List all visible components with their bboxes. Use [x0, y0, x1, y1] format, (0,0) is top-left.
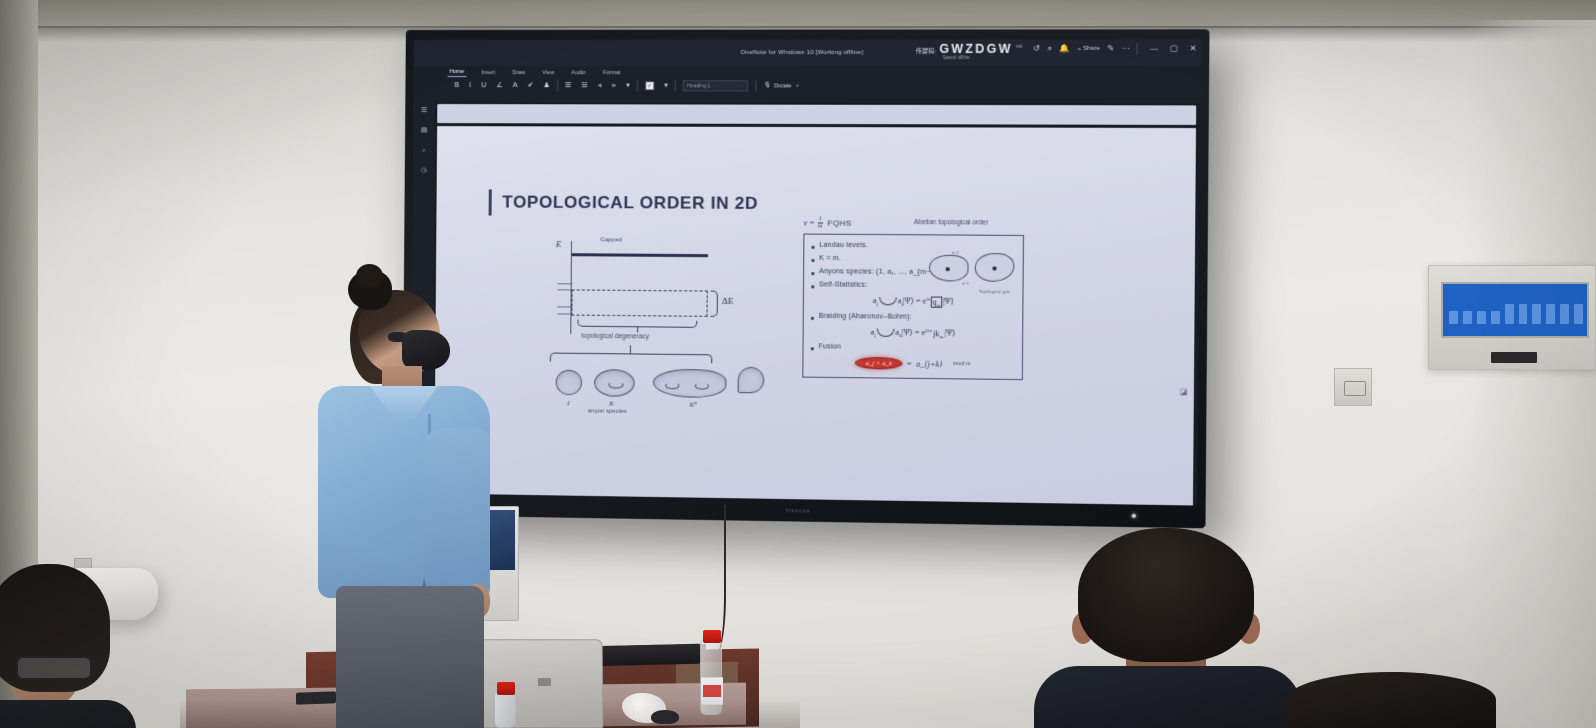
bottle-cap: [703, 630, 721, 643]
minimize-button[interactable]: —: [1150, 45, 1158, 53]
sphere-surface: [556, 370, 582, 395]
energy-level-tick: [558, 283, 573, 284]
anyon-blob-left: [929, 255, 969, 282]
display-brand-label: hisense: [786, 508, 811, 514]
water-bottle: [700, 640, 722, 715]
breaker-switch: [1505, 304, 1514, 324]
todo-checkbox-icon[interactable]: ✓: [645, 81, 654, 90]
abelian-order-panel: ν = 1 m FQHS Abelian topologica: [802, 216, 1024, 380]
filling-fraction: ν = 1 m: [803, 216, 823, 229]
audience-glasses: [16, 656, 92, 680]
checkbox-dropdown-icon[interactable]: ▾: [664, 82, 668, 89]
share-button[interactable]: ⌁ Share: [1077, 45, 1100, 52]
fusion-result: a_{j+k}: [916, 359, 943, 368]
panel-box: a=1 a=t Landau levels.: [802, 234, 1024, 381]
close-button[interactable]: ✕: [1190, 45, 1197, 53]
title-accent-bar: [489, 189, 492, 215]
dictate-dropdown-icon[interactable]: ⌄: [795, 83, 800, 89]
app-ribbon: Home Insert Draw View Audio Format B I U: [413, 66, 1200, 103]
self-statistics-formula: Topological spin ajaj|Ψ⟩ = eiπqm|Ψ⟩: [811, 294, 1016, 307]
classroom-scene: hisense OneNote for Windows 10 [Working …: [0, 0, 1596, 728]
formula-rhs: eiπ: [923, 296, 931, 305]
formula-tail: |Ψ⟩: [943, 297, 954, 306]
pen-icon[interactable]: ✎: [1107, 45, 1114, 53]
fusion-mod: mod m: [953, 361, 971, 367]
bullet-text: Fusion: [818, 343, 841, 350]
wall-display: hisense OneNote for Windows 10 [Working …: [402, 29, 1209, 528]
notification-bell-icon[interactable]: 🔔: [1059, 45, 1070, 53]
dictate-label: Dictate: [774, 83, 792, 89]
bullet-text: Braiding (Aharonov–Bohm):: [819, 313, 912, 321]
genus-two-surface: [653, 369, 727, 398]
genus-label-1: K: [609, 400, 614, 408]
bullet-text: Self-Statistics:: [819, 281, 867, 289]
panel-heading-right: Abelian topological order: [914, 219, 988, 227]
search-icon[interactable]: ⌕: [1047, 45, 1052, 53]
gap-brace: [711, 291, 718, 317]
maximize-button[interactable]: ▢: [1170, 45, 1178, 53]
breaker-switch: [1449, 311, 1458, 324]
display-screen: OneNote for Windows 10 [Working offline]…: [410, 40, 1201, 506]
lecture-slide: TOPOLOGICAL ORDER IN 2D E Gapped: [434, 126, 1196, 505]
genus-exponent: g: [694, 400, 696, 405]
formula-lhs-a: aj: [871, 328, 876, 337]
tab-insert[interactable]: Insert: [479, 69, 497, 77]
presenter-arm: [424, 428, 490, 598]
tab-view[interactable]: View: [540, 69, 556, 77]
anyon-illustrations: a=1 a=t: [929, 250, 1017, 285]
titlebar-icon-group: ↺ ⌕ 🔔 ⌁ Share ✎ ···: [1033, 45, 1130, 53]
panel-heading: ν = 1 m FQHS Abelian topologica: [803, 216, 1024, 235]
bullet-fusion: Fusion: [811, 343, 1016, 352]
breaker-switch: [1491, 311, 1500, 324]
decrease-indent-icon[interactable]: ⫷: [598, 82, 602, 89]
bullet-braiding: Braiding (Aharonov–Bohm):: [811, 313, 1016, 322]
anyon-species-caption: anyon species: [588, 408, 627, 415]
formula-lhs-b: aj|Ψ⟩: [898, 296, 914, 305]
energy-level-diagram: E Gapped: [541, 235, 755, 338]
page-title: TOPOLOGICAL ORDER IN 2D: [502, 192, 758, 214]
undo-history-icon[interactable]: ↺: [1033, 45, 1040, 53]
mouse: [651, 710, 679, 724]
app-titlebar: OneNote for Windows 10 [Working offline]…: [414, 40, 1201, 67]
energy-level-tick: [557, 313, 572, 314]
share-label: Share: [1083, 46, 1100, 52]
fraction-denominator: m: [817, 223, 824, 229]
degenerate-ground-states-box: [571, 289, 707, 316]
display-power-led: [1132, 514, 1136, 518]
breaker-switch-row: [1449, 298, 1583, 324]
bullet-dot: [811, 272, 814, 275]
breaker-window: [1441, 282, 1589, 338]
presenter-hair-bun-top: [356, 264, 383, 288]
bold-icon[interactable]: B: [454, 82, 459, 89]
bullet-dot: [811, 285, 814, 288]
style-selector[interactable]: Heading 1: [683, 80, 748, 91]
dictate-button[interactable]: 🎙 Dictate ⌄: [757, 83, 807, 89]
display-bezel: hisense OneNote for Windows 10 [Working …: [402, 29, 1209, 528]
navigation-menu-icon[interactable]: ☰: [421, 107, 427, 114]
bottle-label: [701, 677, 723, 705]
slide-title-block: TOPOLOGICAL ORDER IN 2D: [489, 189, 759, 217]
formula-tail: |Ψ⟩: [944, 328, 955, 337]
titlebar-divider: [1136, 43, 1137, 55]
todo-group: ✓ ▾: [638, 81, 675, 90]
fusion-highlight-ellipse: a_j × a_k: [855, 357, 902, 370]
presenter-trousers: [336, 586, 484, 728]
bullet-dot: [811, 259, 814, 262]
genus-surface-row: 1 K Kg anyon species: [535, 352, 769, 415]
audience-body: [1034, 666, 1302, 728]
system-label: FQHS: [827, 218, 851, 227]
formula-lhs-a: aj: [873, 296, 878, 305]
cast-code-value: GWZDGW: [939, 42, 1012, 56]
list-tool-group: ☰ ☱ ⫷ ⫸ ▾: [558, 82, 637, 89]
bottle-cap: [497, 682, 515, 695]
underline-icon[interactable]: U: [481, 82, 486, 89]
titlebar-right-group: 传屏码: GWZDGW WE Saved offline ↺ ⌕ 🔔 ⌁: [916, 42, 1197, 56]
excited-band: [572, 253, 708, 257]
wall-socket: [1334, 368, 1372, 406]
braiding-fraction: jkm: [932, 329, 945, 338]
breaker-switch: [1574, 304, 1583, 324]
presenter: [312, 268, 498, 728]
breaker-nameplate: [1491, 352, 1537, 363]
bulleted-list-icon[interactable]: ☰: [565, 82, 571, 89]
screen-cast-code: 传屏码: GWZDGW WE Saved offline: [916, 42, 1023, 56]
tab-format[interactable]: Format: [601, 69, 623, 77]
right-wall-corner: [1466, 20, 1596, 728]
audience-member-center: [1042, 528, 1292, 728]
braid-arc-icon: [877, 329, 895, 337]
boxed-fraction: qm: [930, 297, 942, 308]
breaker-switch: [1532, 304, 1541, 324]
cast-sub-label: Saved offline: [943, 55, 970, 60]
keyboard: [590, 644, 700, 666]
laptop-logo: [538, 678, 551, 686]
notebooks-icon[interactable]: ▤: [421, 127, 428, 134]
more-options-icon[interactable]: ···: [1122, 45, 1130, 53]
onenote-app: OneNote for Windows 10 [Working offline]…: [410, 40, 1201, 506]
braid-arc-icon: [879, 297, 897, 305]
degeneracy-label: topological degeneracy: [581, 333, 649, 341]
breaker-switch: [1560, 304, 1569, 324]
numbered-list-icon[interactable]: ☱: [581, 82, 587, 89]
fusion-formula: a_j × a_k = a_{j+k} mod m: [811, 356, 1016, 370]
electrical-breaker-panel: [1428, 265, 1596, 370]
recent-notes-icon[interactable]: ◷: [421, 167, 427, 174]
bullet-landau-levels: Landau levels.: [812, 242, 1017, 251]
breaker-switch: [1463, 311, 1472, 324]
highlight-icon[interactable]: ✔: [527, 82, 533, 89]
audience-body: [0, 700, 136, 728]
app-body: ☰ ▤ ⌕ ◷: [410, 102, 1200, 506]
bullet-dot: [812, 246, 815, 249]
note-page-area: TOPOLOGICAL ORDER IN 2D E Gapped: [432, 102, 1200, 506]
search-pages-icon[interactable]: ⌕: [422, 147, 426, 154]
share-icon: ⌁: [1077, 45, 1081, 52]
tab-draw[interactable]: Draw: [510, 69, 527, 77]
breaker-switch: [1519, 304, 1528, 324]
presenter-face-mask: [402, 330, 450, 370]
fraction-numerator: 1: [818, 216, 823, 223]
bullet-text: Anyons species: {1, a₁, ..., a_{m−1}}: [819, 268, 940, 276]
bullet-text: Landau levels.: [819, 242, 868, 249]
microphone-icon: 🎙: [764, 83, 771, 89]
italic-icon[interactable]: I: [469, 82, 471, 89]
bullet-text: K = m.: [819, 255, 841, 262]
bullet-dot: [811, 347, 814, 350]
app-title: OneNote for Windows 10 [Working offline]: [740, 50, 863, 56]
energy-axis-label: E: [556, 239, 562, 249]
filling-fraction-value: 1 m: [817, 216, 824, 229]
formula-equals: =: [916, 296, 921, 305]
gap-label: ΔE: [722, 296, 734, 306]
strikethrough-icon[interactable]: ∠: [496, 82, 502, 89]
bullet-dot: [811, 317, 814, 320]
page-options-icon[interactable]: ◪: [1180, 387, 1188, 396]
tab-audio[interactable]: Audio: [569, 69, 587, 77]
audience-member-right: [1286, 672, 1496, 728]
formula-lhs-b: ak|Ψ⟩: [895, 328, 912, 337]
genus-label-2: Kg: [689, 401, 696, 409]
font-color-icon[interactable]: A: [513, 82, 518, 89]
audience-hair: [1078, 528, 1254, 662]
audience-member-left: [0, 564, 136, 728]
tab-home[interactable]: Home: [448, 68, 467, 77]
gapped-label: Gapped: [600, 237, 622, 243]
style-group: Heading 1: [676, 80, 756, 91]
window-controls: — ▢ ✕: [1150, 45, 1197, 53]
clear-format-icon[interactable]: ♟: [543, 82, 549, 89]
list-dropdown-icon[interactable]: ▾: [626, 82, 630, 89]
anyon-tag-top: a=1: [952, 250, 959, 255]
energy-level-tick: [557, 289, 572, 290]
cast-superscript: WE: [1016, 44, 1023, 49]
genus-label-0: 1: [567, 399, 571, 407]
breaker-switch: [1546, 304, 1555, 324]
filling-prefix: ν =: [803, 218, 814, 227]
fusion-equals: =: [906, 359, 912, 368]
degeneracy-stem: [637, 327, 638, 332]
genus-brace: [550, 353, 712, 364]
anyon-blob-right: [975, 253, 1015, 282]
increase-indent-icon[interactable]: ⫸: [612, 82, 616, 89]
page-header-strip: [437, 104, 1196, 125]
torus-surface: [594, 369, 635, 397]
anyon-tag-bottom: a=t: [962, 280, 968, 285]
ribbon-tab-bar: Home Insert Draw View Audio Format: [414, 66, 1201, 78]
ribbon-toolbar: B I U ∠ A ✔ ♟ ☰ ☱: [413, 78, 1200, 92]
anyon-point: [946, 267, 950, 271]
format-tool-group: B I U ∠ A ✔ ♟: [447, 82, 556, 89]
energy-level-tick: [557, 306, 572, 307]
formula-rhs: ei2π: [921, 328, 931, 337]
cast-label: 传屏码:: [916, 46, 936, 55]
topological-spin-annotation: Topological spin: [979, 289, 1010, 294]
style-selector-value: Heading 1: [687, 83, 710, 89]
formula-equals: =: [915, 328, 920, 337]
note-canvas[interactable]: TOPOLOGICAL ORDER IN 2D E Gapped: [434, 126, 1196, 505]
anyon-point: [992, 266, 996, 270]
braiding-formula: ajak|Ψ⟩ = ei2πjkm|Ψ⟩: [811, 326, 1016, 338]
breaker-switch: [1477, 311, 1486, 324]
partial-surface: [738, 367, 765, 394]
